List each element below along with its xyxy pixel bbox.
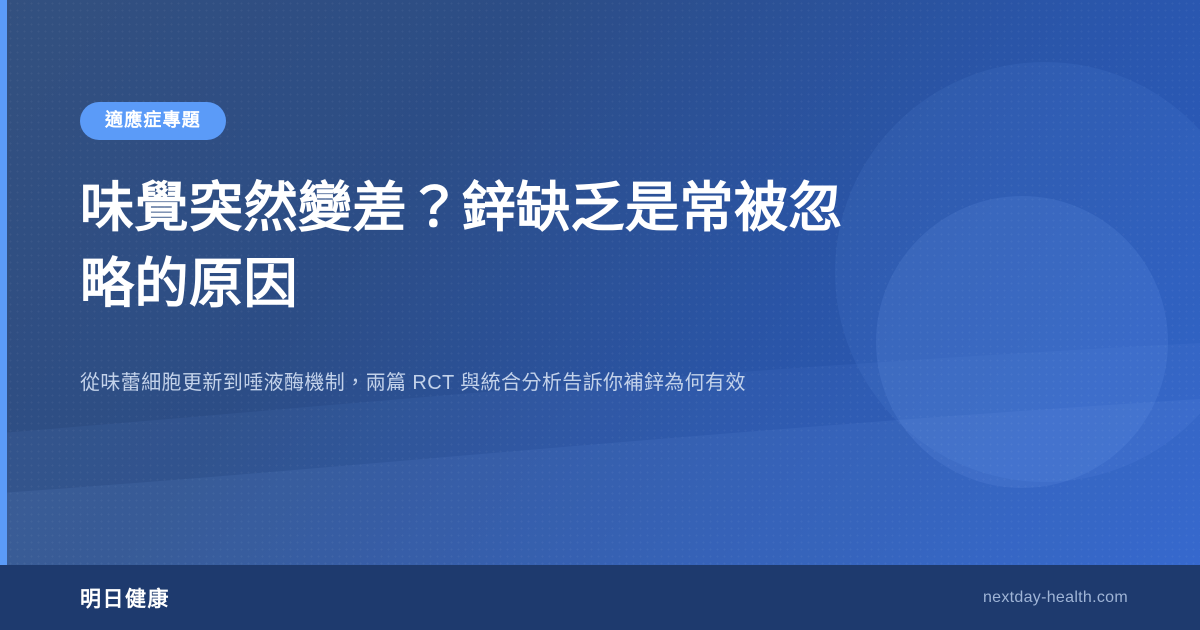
og-share-card: 適應症專題 味覺突然變差？鋅缺乏是常被忽略的原因 從味蕾細胞更新到唾液酶機制，兩… — [0, 0, 1200, 630]
left-accent-bar — [0, 0, 7, 565]
bright-inner-circle-decoration — [876, 196, 1168, 488]
page-subtitle: 從味蕾細胞更新到唾液酶機制，兩篇 RCT 與統合分析告訴你補鋅為何有效 — [80, 367, 910, 399]
category-badge: 適應症專題 — [80, 102, 226, 140]
site-url: nextday-health.com — [983, 589, 1128, 607]
card-content: 適應症專題 味覺突然變差？鋅缺乏是常被忽略的原因 從味蕾細胞更新到唾液酶機制，兩… — [80, 0, 910, 399]
footer-bar: 明日健康 nextday-health.com — [0, 565, 1200, 630]
brand-name: 明日健康 — [80, 583, 170, 613]
page-title: 味覺突然變差？鋅缺乏是常被忽略的原因 — [80, 170, 890, 322]
